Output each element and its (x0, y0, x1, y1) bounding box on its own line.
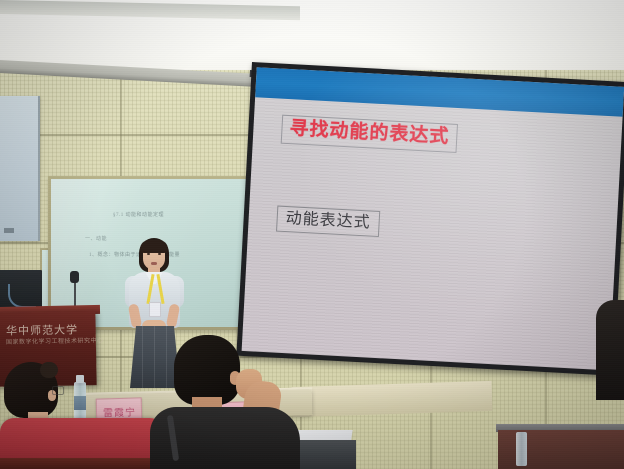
presenter-mouth (151, 262, 157, 265)
chalkboard-line: 一、动能 (85, 235, 107, 242)
chair-base-trim (0, 458, 164, 469)
slide-subtitle-box: 动能表达式 (276, 206, 380, 237)
slide-title-box: 寻找动能的表达式 (281, 115, 458, 153)
chalkboard-line: §7.1 动能和动能定理 (113, 211, 164, 218)
cable (8, 284, 36, 308)
projection-screen-surface: 寻找动能的表达式 动能表达式 (242, 67, 624, 370)
water-bottle (516, 432, 527, 466)
slide-subtitle: 动能表达式 (285, 210, 371, 231)
audience-person-right-edge (596, 300, 624, 400)
panel-vent-icon (4, 228, 14, 233)
podium-subtitle-label: 国家数字化学习工程技术研究中心 (6, 335, 104, 346)
wall-light-panel (0, 96, 40, 241)
glasses-icon (52, 386, 64, 395)
slide-title: 寻找动能的表达式 (289, 119, 450, 146)
presenter-badge (149, 302, 161, 317)
skirt-pleat (142, 326, 143, 388)
audience-head (174, 335, 240, 405)
microphone-icon (70, 271, 79, 283)
audience-person-center (150, 335, 330, 469)
presenter-eye (158, 253, 161, 255)
projection-screen-assembly: 寻找动能的表达式 动能表达式 (236, 62, 624, 382)
classroom-photo-scene: §7.1 动能和动能定理 一、动能 1、概念：物体由于运动而具有的能量 寻找动能… (0, 0, 624, 469)
presenter-eye (147, 253, 150, 255)
audience-hair-bun (40, 362, 58, 378)
presenter-hair-front (140, 240, 168, 253)
